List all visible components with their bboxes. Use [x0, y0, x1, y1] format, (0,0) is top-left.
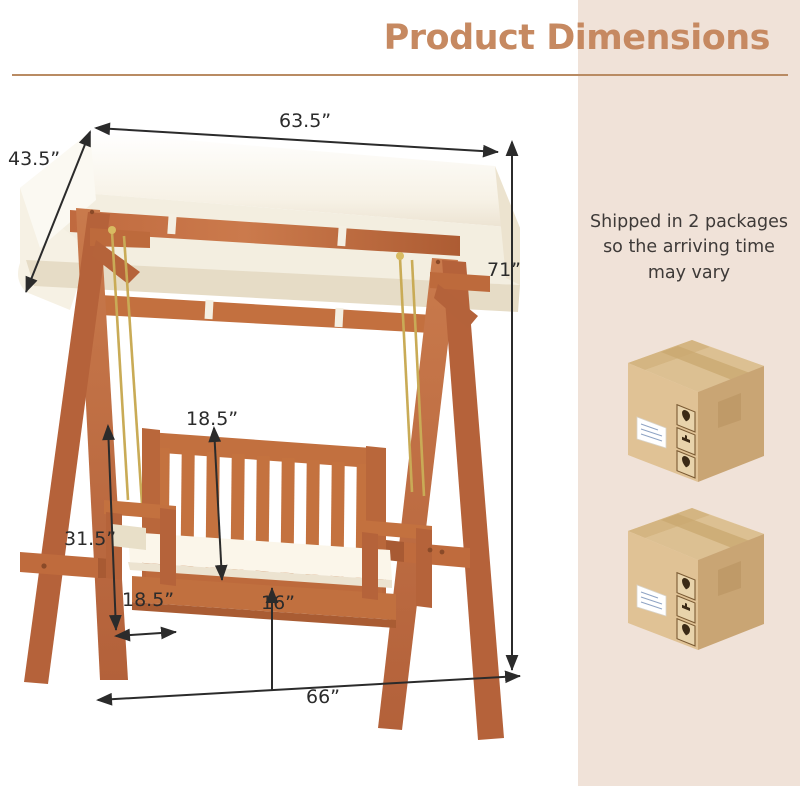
porch-swing-illustration — [0, 80, 578, 786]
shipping-note-line-2: so the arriving time — [586, 235, 792, 260]
header-divider — [12, 74, 788, 76]
dimension-label-seat-height: 16” — [261, 592, 295, 614]
page-title: Product Dimensions — [0, 18, 800, 58]
shipping-note-line-1: Shipped in 2 packages — [586, 210, 792, 235]
package-box-1 — [606, 332, 778, 490]
dimension-label-frame-clearance: 31.5” — [64, 528, 116, 550]
dimension-label-base-width: 66” — [306, 686, 340, 708]
dimension-label-backrest-height: 18.5” — [186, 408, 238, 430]
dimension-label-seat-depth: 18.5” — [122, 589, 174, 611]
package-box-2 — [606, 500, 778, 658]
cardboard-box-icon — [606, 500, 778, 658]
shipping-note-line-3: may vary — [586, 261, 792, 286]
product-dimensions-infographic: Product Dimensions Shipped in 2 packages… — [0, 0, 800, 800]
dimension-label-overall-height: 71” — [487, 259, 521, 281]
dimension-label-canopy-depth: 43.5” — [8, 148, 60, 170]
shipping-note: Shipped in 2 packages so the arriving ti… — [586, 210, 792, 286]
dimension-label-canopy-width: 63.5” — [279, 110, 331, 132]
cardboard-box-icon — [606, 332, 778, 490]
